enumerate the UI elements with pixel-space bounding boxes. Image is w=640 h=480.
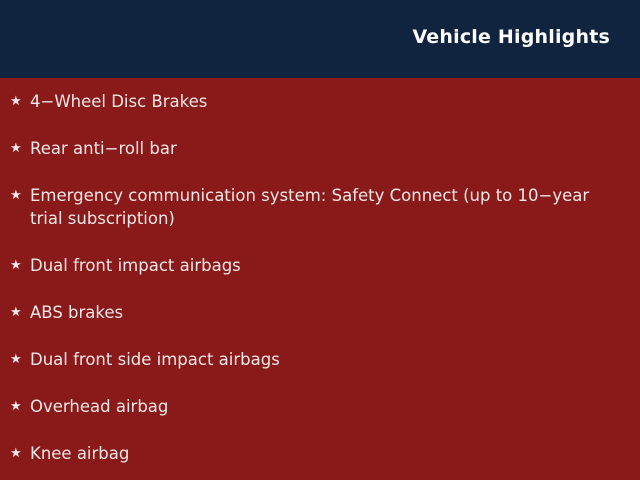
list-item: ★ Dual front side impact airbags (10, 348, 622, 371)
list-item: ★ Overhead airbag (10, 395, 622, 418)
page-title: Vehicle Highlights (412, 26, 610, 48)
star-icon: ★ (10, 90, 24, 113)
star-icon: ★ (10, 184, 24, 207)
list-item-label: Emergency communication system: Safety C… (30, 184, 622, 230)
highlights-panel: ★ 4−Wheel Disc Brakes ★ Rear anti−roll b… (0, 78, 640, 480)
star-icon: ★ (10, 348, 24, 371)
list-item: ★ Knee airbag (10, 442, 622, 465)
star-icon: ★ (10, 137, 24, 160)
star-icon: ★ (10, 442, 24, 465)
slide-header: Vehicle Highlights (0, 0, 640, 78)
list-item: ★ 4−Wheel Disc Brakes (10, 90, 622, 113)
list-item-label: Rear anti−roll bar (30, 137, 622, 160)
list-item-label: Overhead airbag (30, 395, 622, 418)
vehicle-highlights-slide: Vehicle Highlights ★ 4−Wheel Disc Brakes… (0, 0, 640, 480)
list-item: ★ ABS brakes (10, 301, 622, 324)
highlights-list: ★ 4−Wheel Disc Brakes ★ Rear anti−roll b… (10, 90, 622, 465)
list-item-label: Knee airbag (30, 442, 622, 465)
list-item-label: Dual front side impact airbags (30, 348, 622, 371)
star-icon: ★ (10, 301, 24, 324)
list-item-label: Dual front impact airbags (30, 254, 622, 277)
list-item: ★ Emergency communication system: Safety… (10, 184, 622, 230)
list-item: ★ Rear anti−roll bar (10, 137, 622, 160)
list-item-label: 4−Wheel Disc Brakes (30, 90, 622, 113)
list-item-label: ABS brakes (30, 301, 622, 324)
star-icon: ★ (10, 254, 24, 277)
star-icon: ★ (10, 395, 24, 418)
list-item: ★ Dual front impact airbags (10, 254, 622, 277)
